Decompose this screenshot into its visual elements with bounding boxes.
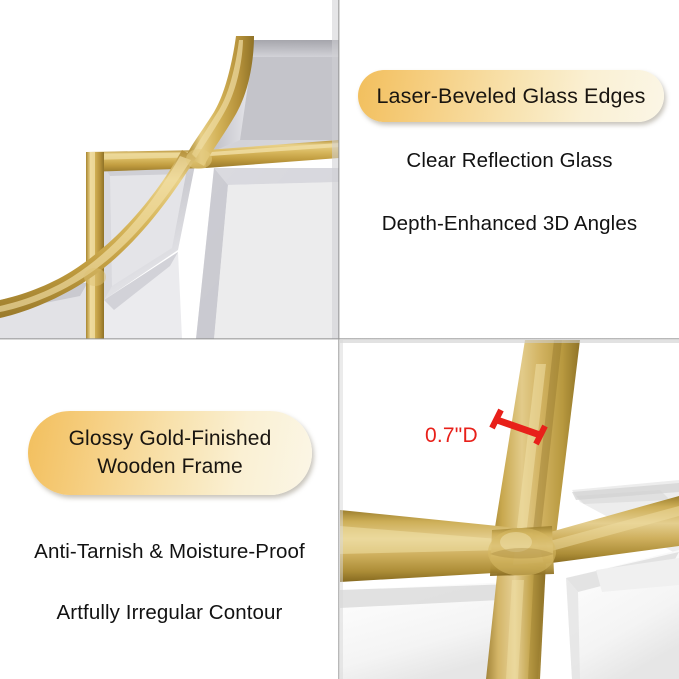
panel-mirror-corner-photo: [0, 0, 339, 339]
gold-frame-cross-illustration: [340, 340, 679, 679]
feature-collage: Laser-Beveled Glass Edges Clear Reflecti…: [0, 0, 679, 679]
badge-glossy-gold-finished-wooden-frame: Glossy Gold-Finished Wooden Frame: [28, 411, 312, 495]
dimension-label-depth: 0.7"D: [425, 424, 478, 448]
badge-glossy-label-line-1: Glossy Gold-Finished: [69, 425, 272, 453]
feature-artfully-irregular-contour: Artfully Irregular Contour: [0, 601, 339, 625]
feature-clear-reflection-glass: Clear Reflection Glass: [340, 149, 679, 173]
gold-junction: [488, 526, 556, 576]
badge-laser-beveled-glass-edges: Laser-Beveled Glass Edges: [358, 70, 664, 122]
badge-glossy-label-line-2: Wooden Frame: [97, 453, 243, 481]
feature-anti-tarnish-moisture-proof: Anti-Tarnish & Moisture-Proof: [0, 540, 339, 564]
panel-frame-features: [0, 340, 339, 679]
panel-frame-depth-photo: [340, 340, 679, 679]
feature-depth-enhanced-3d-angles: Depth-Enhanced 3D Angles: [340, 212, 679, 236]
divider-horizontal: [0, 338, 679, 340]
glass-pane-lower-right: [196, 168, 339, 339]
gold-bar-vertical: [86, 152, 104, 339]
gold-junction-highlight: [186, 149, 212, 169]
badge-laser-label: Laser-Beveled Glass Edges: [376, 82, 645, 110]
gold-junction-highlight-2: [84, 268, 106, 286]
mirror-corner-illustration: [0, 0, 339, 339]
